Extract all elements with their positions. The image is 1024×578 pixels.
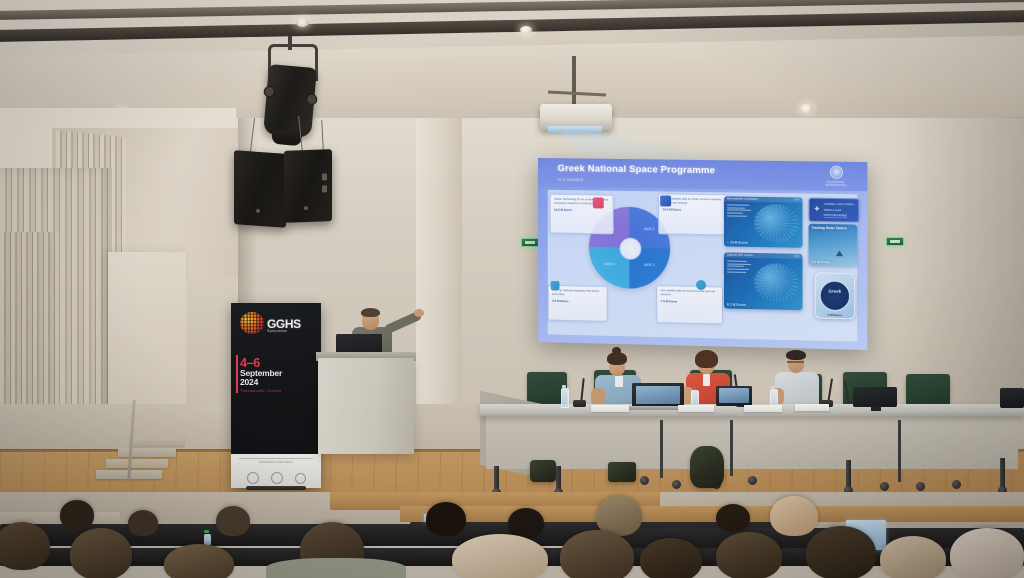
- panelist-right-hair: [786, 350, 806, 360]
- banner-year: 2024: [240, 377, 258, 387]
- stage-light: [263, 64, 317, 138]
- mission-card-title: National SAR mission: [727, 253, 753, 256]
- panelist-left-arm: [591, 388, 605, 405]
- under-table-case: [608, 462, 636, 482]
- chair-caster: [952, 480, 961, 489]
- earth-globe-graphic: [754, 204, 798, 243]
- audience-shoulders: [266, 558, 406, 578]
- logo-mark-icon: [829, 166, 842, 179]
- mission-card-title: Microsatellite constellation: [727, 197, 758, 200]
- mission-card-bullets: [727, 204, 751, 218]
- audience-bottle-cap: [204, 530, 209, 533]
- callout-bottom-right: Use satellite data for environmental and…: [656, 285, 723, 324]
- audience-head: [452, 534, 548, 578]
- audience-head: [128, 510, 158, 536]
- projector-lens: [548, 126, 602, 134]
- audience-head: [880, 536, 946, 578]
- programme-badge-line1: GREEK NATIONAL: [824, 202, 855, 207]
- laptop-display: [636, 386, 680, 404]
- banner-footer: SPONSORS & PARTNERS: [231, 454, 321, 488]
- presenter-hand: [414, 309, 424, 317]
- desk-monitor: [853, 387, 897, 407]
- banner-city: Thessaloniki, Greece: [240, 388, 282, 393]
- gghs-globe-grid: [240, 312, 264, 334]
- greek-dgs-badge: Greek 5 M Euros: [815, 272, 856, 319]
- logo-caption: ΕΛΛΗΝΙΚΗ ΔΗΜΟΚΡΑΤΙΑ: [819, 180, 854, 188]
- ceiling-light: [520, 26, 532, 34]
- under-table-backpack: [690, 446, 724, 488]
- banner-brand-sub: Symposium: [267, 329, 287, 333]
- slide-subtitle: in a nutshell: [558, 177, 584, 182]
- ceiling-light: [800, 104, 813, 113]
- satellite-icon: [593, 197, 604, 208]
- stage-steps: [96, 430, 246, 500]
- name-card: [744, 405, 782, 412]
- monitor-stand: [871, 406, 881, 411]
- name-card: [678, 405, 714, 412]
- microphone-base: [573, 400, 586, 407]
- bottle-cap: [562, 385, 566, 388]
- presenter-hair: [361, 308, 380, 317]
- audience-area: [0, 492, 1024, 578]
- smallsat-icon: ✦: [813, 205, 822, 214]
- conference-rollup-banner: GGHS Symposium 4–6 September 2024 Thessa…: [231, 303, 321, 488]
- desk-monitor: [1000, 388, 1024, 408]
- chair-empty-3: [906, 374, 950, 408]
- hellenic-republic-logo: ΕΛΛΗΝΙΚΗ ΔΗΜΟΚΡΑΤΙΑ: [819, 166, 854, 187]
- audience-head: [716, 532, 782, 578]
- podium: [318, 358, 414, 454]
- gear-icon: [696, 280, 706, 290]
- mission-card-bullets: [727, 260, 751, 274]
- bottle-cap: [692, 387, 696, 390]
- bottle-cap: [771, 386, 775, 389]
- callout-amount: 7.5 M Euros: [661, 299, 719, 304]
- panelist-center-hair: [695, 350, 718, 368]
- name-card: [795, 404, 829, 411]
- callout-bottom-left: Build up national regulatory framework a…: [548, 285, 608, 322]
- chair-caster: [880, 482, 889, 491]
- callout-top-left: Space Technology for an innovative natio…: [550, 194, 614, 235]
- chair-caster: [640, 476, 649, 485]
- projector-mount: [572, 56, 576, 106]
- chair-post: [730, 420, 733, 476]
- audience-head: [806, 526, 876, 578]
- radar-dish-icon: [836, 250, 843, 257]
- audience-head: [716, 504, 750, 532]
- presentation-slide: Greek National Space Programme in a nuts…: [538, 158, 868, 350]
- audience-head: [640, 538, 702, 578]
- projection-screen: Greek National Space Programme in a nuts…: [538, 158, 868, 350]
- mission-card-badge: ESA: [794, 198, 799, 201]
- panelist-left-lanyard: [615, 376, 623, 387]
- chair-post: [898, 420, 901, 482]
- radar-globe-graphic: [754, 263, 798, 302]
- panelist-center-lanyard: [703, 374, 710, 386]
- banner-base: [246, 486, 306, 490]
- audience-head: [60, 500, 94, 530]
- dgs-amount: 5 M Euros: [816, 312, 855, 317]
- banner-accent-bar: [236, 355, 238, 393]
- sponsor-logo: [271, 472, 283, 484]
- ceiling-light: [296, 18, 309, 27]
- banner-footer-caption: SPONSORS & PARTNERS: [231, 461, 321, 464]
- mission-card-1: Microsatellite constellation ESA ~ 19 M …: [724, 196, 802, 247]
- tracking-radar-station-card: Tracking Radar Station 5.0 M Euros: [809, 224, 858, 267]
- audience-head: [0, 522, 50, 570]
- exit-sign-left: [521, 238, 539, 247]
- under-table-bag: [530, 460, 556, 482]
- chair-caster: [672, 480, 681, 489]
- radar-card-title: Tracking Radar Station: [812, 225, 847, 230]
- shield-icon: [551, 281, 560, 290]
- donut-label-axis-4: AXIS 4: [593, 262, 627, 267]
- mission-card-2: National SAR mission ESA 6.1 M Euros: [724, 252, 802, 310]
- chair-caster: [916, 482, 925, 491]
- donut-label-axis-3: AXIS 3: [632, 263, 666, 268]
- pa-speaker-left: [234, 150, 286, 228]
- panelist-left-hair-bun: [612, 347, 621, 355]
- audience-head: [770, 496, 818, 536]
- globe-icon: [660, 195, 671, 206]
- exit-sign-right: [886, 237, 904, 246]
- name-card: [591, 405, 629, 412]
- chair-post: [660, 420, 663, 478]
- mission-card-amount: 6.1 M Euros: [727, 303, 746, 307]
- audience-head: [560, 530, 634, 578]
- conference-hall-photo: Greek National Space Programme in a nuts…: [0, 0, 1024, 578]
- dgs-label: Greek: [816, 288, 855, 294]
- audience-head: [164, 544, 234, 578]
- callout-text: Build up national regulatory framework a…: [552, 289, 603, 298]
- sponsor-logo: [295, 473, 306, 484]
- audience-wood-step: [400, 506, 1024, 522]
- donut-hub: [620, 238, 642, 260]
- audience-head: [216, 506, 250, 536]
- mission-card-amount: ~ 19 M Euros: [727, 240, 748, 244]
- callout-amount: 2.5 M Euros: [552, 299, 603, 304]
- callout-text: Use of satellite data for better service…: [663, 197, 723, 206]
- slide-body: AXIS 1 AXIS 2 AXIS 4 AXIS 3 Space Techno…: [548, 190, 858, 342]
- sponsor-logo: [247, 472, 259, 484]
- audience-head: [950, 528, 1024, 578]
- audience-head: [70, 528, 132, 578]
- audience-head: [426, 502, 466, 536]
- callout-amount: 10.0 M Euros: [663, 207, 723, 212]
- pa-speaker-right: [284, 149, 332, 223]
- radar-card-amount: 5.0 M Euros: [812, 260, 830, 264]
- slide-title: Greek National Space Programme: [558, 163, 716, 176]
- water-bottle: [561, 388, 569, 408]
- audience-head: [508, 508, 544, 538]
- laptop-display: [719, 388, 749, 403]
- chair-caster: [748, 476, 757, 485]
- callout-text: Use satellite data for environmental and…: [661, 289, 719, 298]
- programme-badge-sub: in partnership with ESA: [824, 216, 847, 218]
- greek-national-smallsat-programme-badge: ✦ GREEK NATIONAL SMALLSAT PROGRAMME in p…: [809, 198, 860, 223]
- mission-card-badge: ESA: [794, 254, 799, 257]
- dgs-ring-graphic: [820, 280, 850, 311]
- panelist-right-glasses: [787, 361, 804, 363]
- table-front-panel: [486, 415, 1018, 469]
